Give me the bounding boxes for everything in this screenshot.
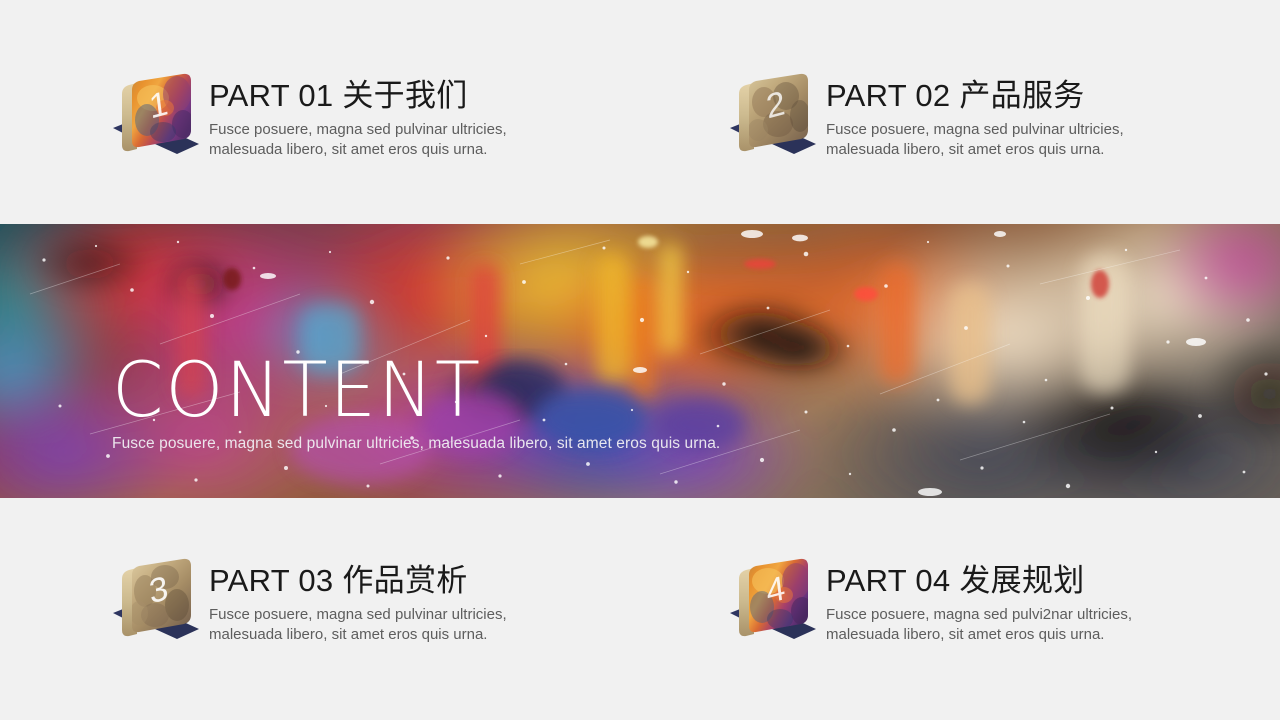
part-title-04: PART 04 发展规划: [826, 563, 1132, 599]
part-desc-02: Fusce posuere, magna sed pulvinar ultric…: [826, 120, 1124, 159]
iso-card-icon-2[interactable]: 2: [722, 72, 818, 164]
part-title-03: PART 03 作品赏析: [209, 563, 507, 599]
content-banner: CONTENT Fusce posuere, magna sed pulvina…: [0, 224, 1280, 498]
banner-subtitle: Fusce posuere, magna sed pulvinar ultric…: [112, 434, 720, 453]
iso-card-icon-1-graphic: 1: [105, 72, 201, 164]
banner-text-group: CONTENT Fusce posuere, magna sed pulvina…: [112, 352, 720, 453]
part-desc-03: Fusce posuere, magna sed pulvinar ultric…: [209, 605, 507, 644]
iso-card-icon-3-graphic: 3: [105, 557, 201, 649]
part-title-01: PART 01 关于我们: [209, 78, 507, 114]
iso-card-icon-1[interactable]: 1: [105, 72, 201, 164]
part-block-01[interactable]: 1 PART 01 关于我们 Fusce posuere, magna sed …: [105, 72, 507, 164]
part-desc-04: Fusce posuere, magna sed pulvi2nar ultri…: [826, 605, 1132, 644]
iso-card-icon-4-graphic: 4: [722, 557, 818, 649]
part-title-02: PART 02 产品服务: [826, 78, 1124, 114]
slide-root: 1 PART 01 关于我们 Fusce posuere, magna sed …: [0, 0, 1280, 720]
part-text-03: PART 03 作品赏析 Fusce posuere, magna sed pu…: [209, 557, 507, 644]
part-text-04: PART 04 发展规划 Fusce posuere, magna sed pu…: [826, 557, 1132, 644]
part-block-04[interactable]: 4 PART 04 发展规划 Fusce posuere, magna sed …: [722, 557, 1132, 649]
iso-card-icon-3[interactable]: 3: [105, 557, 201, 649]
part-text-01: PART 01 关于我们 Fusce posuere, magna sed pu…: [209, 72, 507, 159]
part-block-03[interactable]: 3 PART 03 作品赏析 Fusce posuere, magna sed …: [105, 557, 507, 649]
banner-title: CONTENT: [112, 352, 702, 428]
part-desc-01: Fusce posuere, magna sed pulvinar ultric…: [209, 120, 507, 159]
part-block-02[interactable]: 2 PART 02 产品服务 Fusce posuere, magna sed …: [722, 72, 1124, 164]
iso-card-icon-2-graphic: 2: [722, 72, 818, 164]
iso-card-icon-4[interactable]: 4: [722, 557, 818, 649]
part-text-02: PART 02 产品服务 Fusce posuere, magna sed pu…: [826, 72, 1124, 159]
